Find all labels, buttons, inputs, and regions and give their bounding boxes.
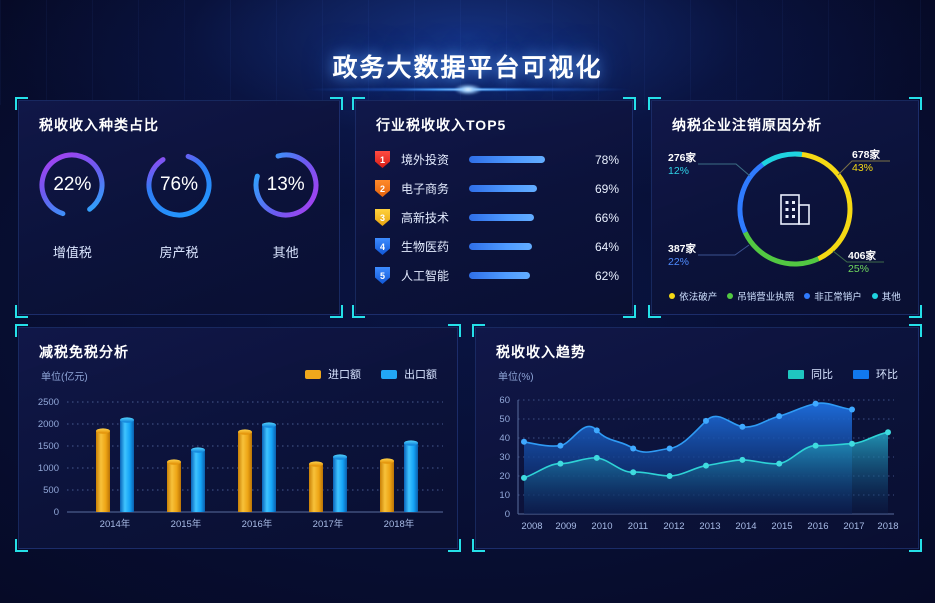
progress-fill [469, 156, 545, 163]
svg-text:60: 60 [499, 395, 510, 406]
svg-text:30: 30 [499, 452, 510, 463]
progress-track [469, 156, 567, 163]
donut-label-1: 406家 25% [848, 250, 876, 276]
legend-label-3: 其他 [882, 289, 901, 303]
corner-bracket-icon [15, 305, 28, 318]
legend-item-1[interactable]: 吊销营业执照 [727, 289, 794, 303]
corner-bracket-icon [15, 97, 28, 110]
top5-percent: 64% [595, 240, 619, 254]
panel-industry-tax-top5: 行业税收收入TOP5 1 境外投资 78% 2 电子商务 69% 3 高新技术 … [355, 100, 633, 315]
panel-title-trend: 税收收入趋势 [496, 342, 586, 362]
list-item[interactable]: 1 境外投资 78% [375, 145, 619, 174]
legend-item-import[interactable]: 进口额 [305, 366, 361, 382]
svg-text:1000: 1000 [38, 463, 59, 474]
svg-text:2018年: 2018年 [384, 518, 415, 530]
gauge-item-0[interactable]: 22% 增值税 [36, 149, 108, 261]
progress-track [469, 243, 567, 250]
svg-text:2013: 2013 [699, 521, 720, 532]
donut-label-0: 678家 43% [852, 149, 880, 175]
rank-badge-icon: 3 [375, 209, 390, 226]
corner-bracket-icon [648, 305, 661, 318]
legend-label-0: 依法破产 [679, 289, 717, 303]
corner-bracket-icon [909, 324, 922, 337]
svg-text:0: 0 [54, 507, 59, 518]
donut-pct-0: 43% [852, 162, 880, 175]
donut-label-3: 276家 12% [668, 152, 696, 178]
corner-bracket-icon [909, 305, 922, 318]
top5-percent: 78% [595, 153, 619, 167]
svg-text:2018: 2018 [877, 521, 898, 532]
corner-bracket-icon [448, 324, 461, 337]
corner-bracket-icon [648, 97, 661, 110]
corner-bracket-icon [330, 305, 343, 318]
svg-text:2009: 2009 [555, 521, 576, 532]
gauge-ring-0: 22% [36, 149, 108, 221]
svg-text:2011: 2011 [628, 521, 648, 532]
svg-text:2010: 2010 [591, 521, 612, 532]
list-item[interactable]: 2 电子商务 69% [375, 174, 619, 203]
donut-pct-3: 12% [668, 165, 696, 178]
dashboard-header: 政务大数据平台可视化 [0, 0, 935, 98]
header-glow-dot [454, 84, 482, 95]
legend-label-export: 出口额 [404, 366, 437, 382]
bar-chart-legend: 进口额 出口额 [305, 366, 437, 382]
legend-item-export[interactable]: 出口额 [381, 366, 437, 382]
panel-title-reduction: 减税免税分析 [39, 342, 129, 362]
gauge-label-1: 房产税 [159, 242, 198, 261]
building-icon [775, 189, 815, 229]
corner-bracket-icon [472, 324, 485, 337]
donut-count-1: 406家 [848, 250, 876, 263]
legend-label-2: 非正常销户 [814, 289, 862, 303]
top5-name: 高新技术 [401, 209, 463, 226]
svg-text:2014年: 2014年 [100, 518, 131, 530]
svg-text:2016年: 2016年 [242, 518, 273, 530]
donut-pct-1: 25% [848, 263, 876, 276]
svg-text:2500: 2500 [38, 397, 59, 408]
donut-pct-2: 22% [668, 256, 696, 269]
gauge-ring-1: 76% [143, 149, 215, 221]
top5-name: 人工智能 [401, 267, 463, 284]
gauge-group: 22% 增值税 [19, 149, 339, 261]
progress-fill [469, 272, 530, 279]
panel-tax-reduction: 减税免税分析 单位(亿元) 进口额 出口额 [18, 327, 458, 549]
corner-bracket-icon [352, 97, 365, 110]
svg-text:2000: 2000 [38, 419, 59, 430]
legend-item-0[interactable]: 依法破产 [669, 289, 717, 303]
bar-chart-plot: 2500 2000 1500 1000 500 0 [19, 386, 459, 546]
legend-dot-icon [804, 293, 810, 299]
legend-label-import: 进口额 [328, 366, 361, 382]
legend-dot-icon [872, 293, 878, 299]
progress-fill [469, 214, 534, 221]
trend-chart-unit: 单位(%) [498, 368, 534, 383]
list-item[interactable]: 4 生物医药 64% [375, 232, 619, 261]
donut-legend: 依法破产 吊销营业执照 非正常销户 其他 [652, 289, 918, 303]
top5-percent: 69% [595, 182, 619, 196]
progress-track [469, 185, 567, 192]
list-item[interactable]: 5 人工智能 62% [375, 261, 619, 290]
gauge-value-0: 22% [36, 149, 108, 221]
svg-text:1500: 1500 [38, 441, 59, 452]
top5-name: 境外投资 [401, 151, 463, 168]
legend-item-3[interactable]: 其他 [872, 289, 901, 303]
corner-bracket-icon [15, 324, 28, 337]
progress-track [469, 214, 567, 221]
svg-text:2016: 2016 [807, 521, 828, 532]
gauge-item-2[interactable]: 13% 其他 [250, 149, 322, 261]
legend-dot-icon [727, 293, 733, 299]
svg-text:500: 500 [43, 485, 59, 496]
svg-text:2008: 2008 [521, 521, 542, 532]
donut-count-3: 276家 [668, 152, 696, 165]
gauge-value-1: 76% [143, 149, 215, 221]
svg-text:0: 0 [505, 509, 510, 520]
page-title: 政务大数据平台可视化 [0, 48, 935, 84]
legend-item-mom[interactable]: 环比 [853, 366, 898, 382]
legend-label-yoy: 同比 [811, 366, 833, 382]
bar-chart-unit: 单位(亿元) [41, 368, 88, 383]
svg-text:2017: 2017 [843, 521, 864, 532]
svg-text:2012: 2012 [663, 521, 684, 532]
legend-label-1: 吊销营业执照 [737, 289, 794, 303]
legend-label-mom: 环比 [876, 366, 898, 382]
rank-badge-icon: 4 [375, 238, 390, 255]
legend-item-2[interactable]: 非正常销户 [804, 289, 862, 303]
progress-fill [469, 243, 532, 250]
list-item[interactable]: 3 高新技术 66% [375, 203, 619, 232]
svg-text:2015年: 2015年 [171, 518, 202, 530]
panel-cancellation-reason: 纳税企业注销原因分析 [651, 100, 919, 315]
trend-chart-plot: 60 50 40 30 20 10 0 [476, 386, 920, 546]
panel-title-top5: 行业税收收入TOP5 [376, 115, 506, 135]
rank-badge-icon: 5 [375, 267, 390, 284]
svg-text:10: 10 [499, 490, 510, 501]
panel-tax-income-type: 税收收入种类占比 22% [18, 100, 340, 315]
corner-bracket-icon [352, 305, 365, 318]
svg-text:40: 40 [499, 433, 510, 444]
svg-text:2014: 2014 [735, 521, 756, 532]
legend-swatch-icon [788, 370, 804, 379]
donut-label-2: 387家 22% [668, 243, 696, 269]
corner-bracket-icon [623, 305, 636, 318]
legend-swatch-icon [853, 370, 869, 379]
corner-bracket-icon [909, 97, 922, 110]
legend-item-yoy[interactable]: 同比 [788, 366, 833, 382]
rank-badge-icon: 1 [375, 151, 390, 168]
svg-text:50: 50 [499, 414, 510, 425]
gauge-label-2: 其他 [273, 242, 299, 261]
panel-title-tax-type: 税收收入种类占比 [39, 115, 159, 135]
top5-list: 1 境外投资 78% 2 电子商务 69% 3 高新技术 66% 4 生物医药 [375, 145, 619, 290]
panel-tax-trend: 税收收入趋势 单位(%) 同比 环比 [475, 327, 919, 549]
legend-dot-icon [669, 293, 675, 299]
svg-text:2015: 2015 [771, 521, 792, 532]
gauge-value-2: 13% [250, 149, 322, 221]
gauge-ring-2: 13% [250, 149, 322, 221]
corner-bracket-icon [623, 97, 636, 110]
legend-swatch-icon [305, 370, 321, 379]
donut-count-2: 387家 [668, 243, 696, 256]
top5-name: 生物医药 [401, 238, 463, 255]
dashboard-root: 政务大数据平台可视化 税收收入种类占比 [0, 0, 935, 603]
gauge-label-0: 增值税 [53, 242, 92, 261]
svg-text:20: 20 [499, 471, 510, 482]
svg-text:2017年: 2017年 [313, 518, 344, 530]
top5-percent: 66% [595, 211, 619, 225]
gauge-item-1[interactable]: 76% 房产税 [143, 149, 215, 261]
top5-percent: 62% [595, 269, 619, 283]
rank-badge-icon: 2 [375, 180, 390, 197]
corner-bracket-icon [330, 97, 343, 110]
donut-count-0: 678家 [852, 149, 880, 162]
progress-fill [469, 185, 537, 192]
top5-name: 电子商务 [401, 180, 463, 197]
trend-chart-legend: 同比 环比 [788, 366, 898, 382]
legend-swatch-icon [381, 370, 397, 379]
progress-track [469, 272, 567, 279]
donut-chart: 678家 43% 406家 25% 387家 22% 276家 12% [652, 131, 918, 281]
